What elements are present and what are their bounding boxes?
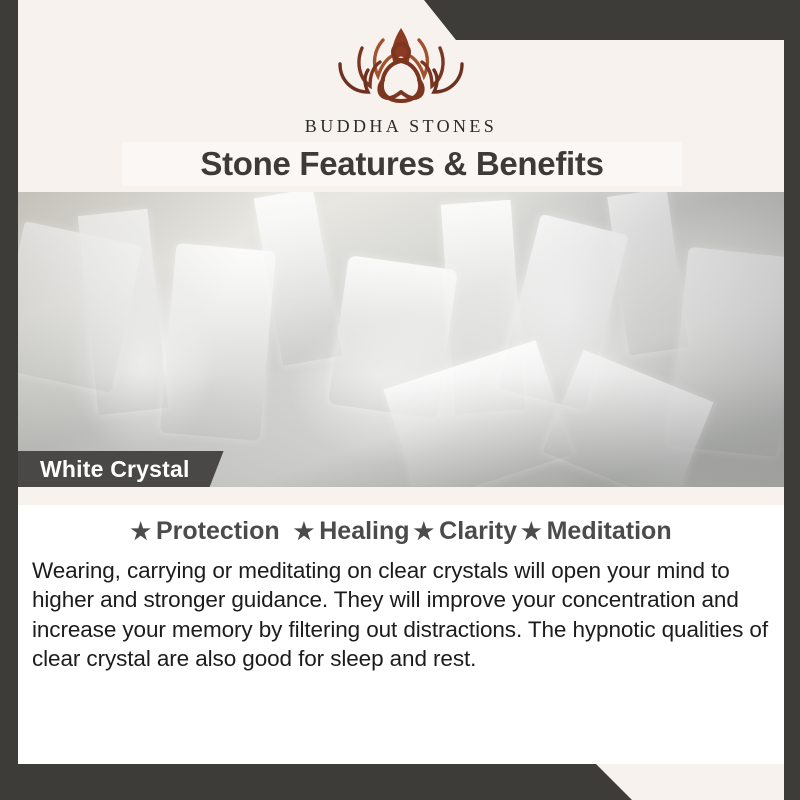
stone-info-card: White Crystal BUDDH bbox=[0, 0, 800, 800]
benefit-label: Protection bbox=[156, 517, 280, 546]
benefit-label: Meditation bbox=[547, 517, 672, 546]
benefit-item: ★ Protection bbox=[130, 517, 279, 546]
crystal-photo bbox=[18, 192, 784, 487]
benefit-label: Clarity bbox=[439, 517, 517, 546]
benefit-item: ★ Healing bbox=[294, 517, 410, 546]
stone-name-label: White Crystal bbox=[40, 456, 190, 483]
body-top-strip bbox=[18, 487, 784, 505]
stone-name-badge: White Crystal bbox=[18, 451, 224, 487]
card-body: ★ Protection ★ Healing ★ Clarity ★ Medit… bbox=[18, 505, 784, 764]
benefit-label: Healing bbox=[319, 517, 409, 546]
frame-accent-right bbox=[784, 0, 800, 800]
frame-accent-bottom bbox=[0, 764, 800, 800]
benefit-item: ★ Clarity bbox=[414, 517, 517, 546]
frame-accent-left bbox=[0, 0, 18, 800]
star-icon: ★ bbox=[521, 518, 542, 545]
star-icon: ★ bbox=[130, 518, 151, 545]
star-icon: ★ bbox=[414, 518, 435, 545]
page-title-band: Stone Features & Benefits bbox=[122, 142, 682, 186]
page-title: Stone Features & Benefits bbox=[200, 145, 603, 183]
photo-shading-overlay bbox=[18, 192, 784, 487]
benefits-row: ★ Protection ★ Healing ★ Clarity ★ Medit… bbox=[18, 505, 784, 546]
brand-name: BUDDHA STONES bbox=[305, 116, 497, 137]
star-icon: ★ bbox=[294, 518, 315, 545]
description-text: Wearing, carrying or meditating on clear… bbox=[32, 556, 770, 674]
benefit-item: ★ Meditation bbox=[521, 517, 672, 546]
